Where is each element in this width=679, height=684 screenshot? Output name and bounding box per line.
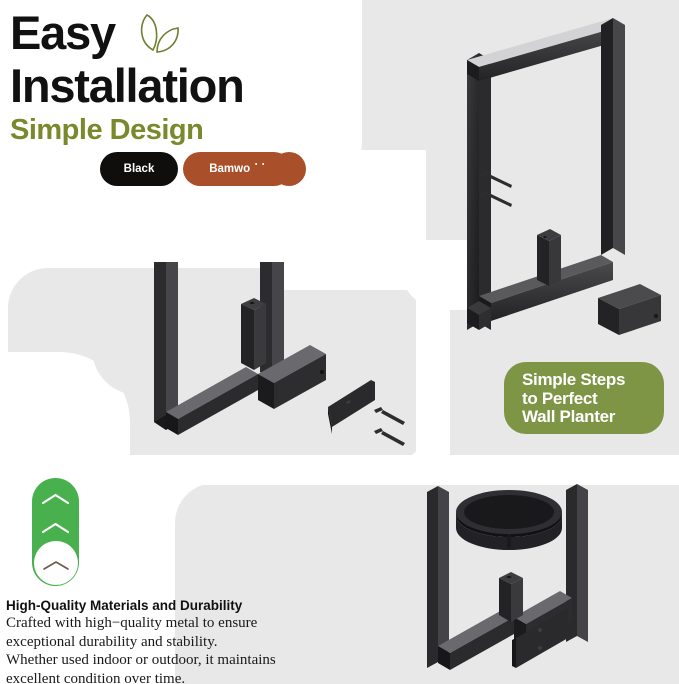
swatch-option-black[interactable]: Black [100,152,178,186]
chevron-up-icon-3[interactable] [42,559,70,572]
headline-line-2: Installation [10,56,340,109]
leaf-icon [133,12,185,54]
illustration-wall-planter-frame [434,8,679,348]
headline-subtitle: Simple Design [10,109,340,146]
feature-copy-body: Crafted with high−quality metal to ensur… [6,614,336,684]
cta-badge[interactable]: Simple Steps to Perfect Wall Planter [504,362,664,434]
swatch-dot-bamworld[interactable] [272,152,306,186]
illustration-assembled-planter [372,470,677,684]
feature-copy-block: High-Quality Materials and Durability Cr… [6,598,336,684]
cta-line-1: Simple Steps [522,371,664,390]
feature-copy-title: High-Quality Materials and Durability [6,598,336,614]
cta-line-2: to Perfect [522,390,664,409]
chevron-active-circle[interactable] [34,541,78,585]
chevron-up-icon-2[interactable] [41,521,70,535]
chevron-stepper-control[interactable] [32,478,79,586]
illustration-base-bracket-detail [128,262,428,462]
cta-line-3: Wall Planter [522,408,664,427]
chevron-up-icon-1[interactable] [41,492,70,506]
product-infographic: Easy Installation Simple Design BlackBam… [0,0,679,684]
